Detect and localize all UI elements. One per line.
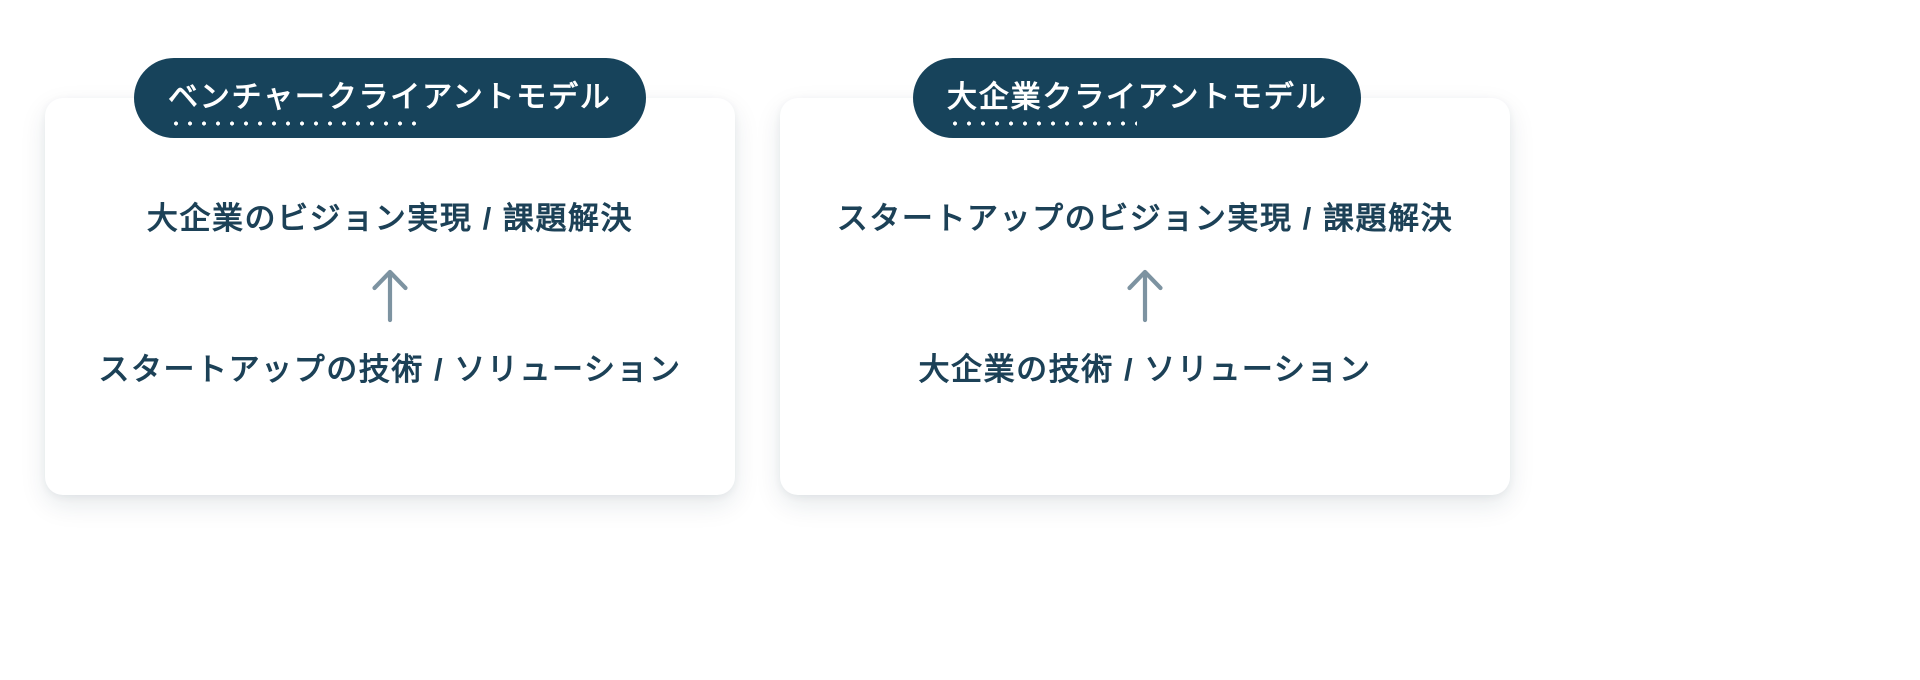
up-arrow-icon [1123,267,1167,323]
card-body: スタートアップのビジョン実現 / 課題解決 大企業の技術 / ソリューション [780,98,1510,495]
badge-label-emphasized: 大企業クライ [947,83,1138,113]
badge-label-rest: アントモデル [1138,81,1328,114]
up-arrow-icon [368,267,412,323]
badge-label: 大企業クライアントモデル [947,83,1327,113]
card-body: 大企業のビジョン実現 / 課題解決 スタートアップの技術 / ソリューション [45,98,735,495]
model-comparison-cards: ベンチャークライアントモデル 大企業のビジョン実現 / 課題解決 スタートアップ… [45,98,1510,495]
input-line: 大企業の技術 / ソリューション [918,351,1371,388]
badge-label-rest: アントモデル [422,81,612,114]
badge-label: ベンチャークライアントモデル [168,83,612,113]
input-line: スタートアップの技術 / ソリューション [98,351,681,388]
outcome-line: スタートアップのビジョン実現 / 課題解決 [837,200,1453,237]
large-enterprise-client-model-card: 大企業クライアントモデル スタートアップのビジョン実現 / 課題解決 大企業の技… [780,98,1510,495]
card-badge-venture-client-model: ベンチャークライアントモデル [134,58,646,138]
card-badge-large-enterprise-client-model: 大企業クライアントモデル [913,58,1361,138]
badge-label-emphasized: ベンチャークライ [168,83,422,113]
venture-client-model-card: ベンチャークライアントモデル 大企業のビジョン実現 / 課題解決 スタートアップ… [45,98,735,495]
diagram-canvas: ベンチャークライアントモデル 大企業のビジョン実現 / 課題解決 スタートアップ… [0,0,1920,680]
outcome-line: 大企業のビジョン実現 / 課題解決 [147,200,633,237]
